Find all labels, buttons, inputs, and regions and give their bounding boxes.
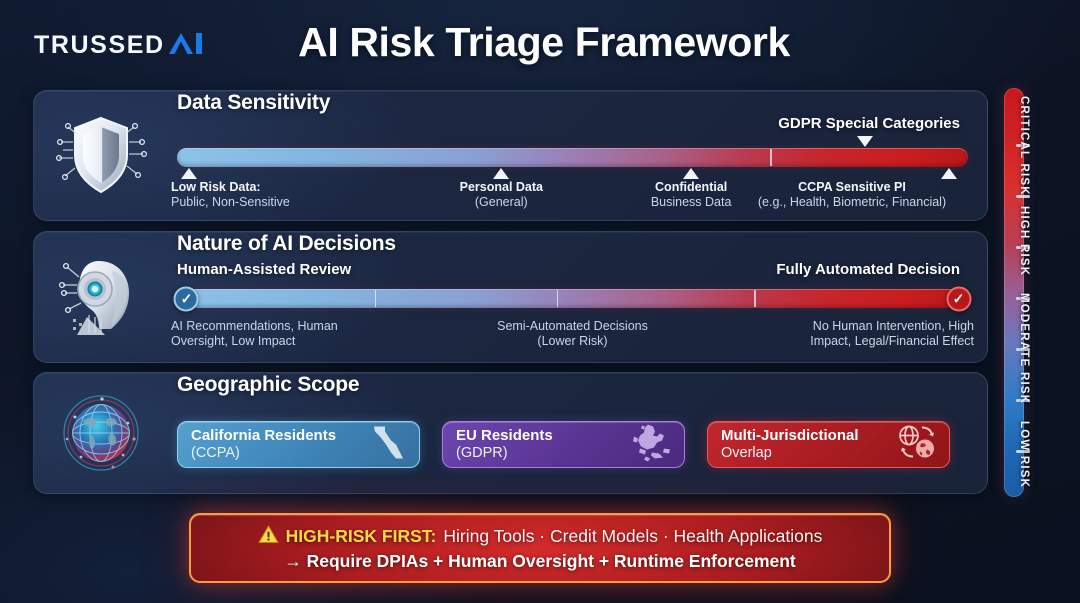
robot-head-icon: [55, 251, 147, 343]
stop-label-line2: Impact, Legal/Financial Effect: [714, 334, 974, 349]
card-title: Nature of AI Decisions: [177, 232, 396, 256]
marker-personal-data: [493, 168, 509, 179]
stop-label-line2: Oversight, Low Impact: [171, 334, 421, 349]
stop-semi-automated-decisions: Semi-Automated Decisions (Lower Risk): [463, 319, 683, 350]
stop-low-risk-data: Low Risk Data: Public, Non-Sensitive: [171, 180, 391, 211]
stop-personal-data: Personal Data (General): [401, 180, 601, 211]
bar-divider: [557, 290, 559, 307]
bar-divider: [770, 149, 772, 166]
marker-low-risk-data: [181, 168, 197, 179]
card-data-sensitivity-body: Data Sensitivity GDPR Special Categories…: [177, 91, 968, 220]
check-circle-icon-fully-automated[interactable]: ✓: [946, 286, 971, 311]
pill-text: California Residents (CCPA): [191, 427, 336, 462]
stop-label-line1: CCPA Sensitive PI: [722, 180, 982, 195]
data-sensitivity-scale: Low Risk Data: Public, Non-Sensitive Per…: [177, 148, 968, 167]
stop-label-line1: Personal Data: [401, 180, 601, 195]
card-geographic-scope: Geographic Scope California Residents (C…: [33, 372, 988, 494]
card-title: Data Sensitivity: [177, 91, 330, 115]
pill-text: EU Residents (GDPR): [456, 427, 553, 462]
stop-label-line2: Public, Non-Sensitive: [171, 195, 391, 210]
card-nature-of-ai-decisions: Nature of AI Decisions Human-Assisted Re…: [33, 231, 988, 363]
bar-divider: [375, 290, 377, 307]
stop-label-line2: (e.g., Health, Biometric, Financial): [722, 195, 982, 210]
page-title: AI Risk Triage Framework: [0, 19, 1080, 66]
overlabel-fully-automated-decision: Fully Automated Decision: [776, 261, 960, 278]
infographic-canvas: TRUSSED AI Risk Triage Framework: [0, 0, 1080, 603]
legend-label-low-risk: LOW RISK: [1018, 421, 1030, 488]
legend-label-high-risk: HIGH RISK: [1018, 206, 1030, 276]
header: TRUSSED AI Risk Triage Framework: [0, 0, 1080, 88]
stop-label-line1: Semi-Automated Decisions: [463, 319, 683, 334]
warning-triangle-icon: [258, 525, 279, 549]
nature-of-decisions-scale: ✓ ✓ AI Recommendations, Human Oversight,…: [177, 289, 968, 308]
pill-label-line2: (GDPR): [456, 445, 553, 462]
overlabel-gdpr-special-categories: GDPR Special Categories: [778, 115, 960, 132]
marker-gdpr-special-categories: [857, 136, 873, 147]
risk-gradient-bar[interactable]: [177, 148, 968, 167]
pill-text: Multi-Jurisdictional Overlap: [721, 427, 859, 462]
risk-legend: CRITICAL RISK HIGH RISK MODERATE RISK LO…: [1000, 88, 1080, 497]
card-data-sensitivity: Data Sensitivity GDPR Special Categories…: [33, 90, 988, 221]
check-circle-icon-human-assisted[interactable]: ✓: [174, 286, 199, 311]
pill-eu-residents[interactable]: EU Residents (GDPR): [442, 421, 685, 468]
globe-hologram-icon: [55, 387, 147, 479]
pill-label-line1: California Residents: [191, 427, 336, 445]
stop-label-line2: (Lower Risk): [463, 334, 683, 349]
bar-divider: [754, 290, 756, 307]
banner-line-2: → Require DPIAs + Human Oversight + Runt…: [284, 551, 796, 572]
card-title: Geographic Scope: [177, 373, 359, 397]
card-nature-body: Nature of AI Decisions Human-Assisted Re…: [177, 232, 968, 362]
pill-label-line2: (CCPA): [191, 445, 336, 462]
stop-label-line1: AI Recommendations, Human: [171, 319, 421, 334]
stop-label-line2: (General): [401, 195, 601, 210]
stop-ccpa-sensitive-pi: CCPA Sensitive PI (e.g., Health, Biometr…: [722, 180, 982, 211]
banner-line-1: HIGH-RISK FIRST: Hiring Tools · Credit M…: [258, 525, 823, 549]
stop-label-line1: No Human Intervention, High: [714, 319, 974, 334]
card-geo-body: Geographic Scope California Residents (C…: [177, 373, 968, 493]
stop-label-line1: Low Risk Data:: [171, 180, 391, 195]
pill-multi-jurisdictional-overlap[interactable]: Multi-Jurisdictional Overlap: [707, 421, 950, 468]
dual-globe-sync-icon: [895, 422, 939, 467]
overlabel-human-assisted-review: Human-Assisted Review: [177, 261, 351, 278]
risk-gradient-bar[interactable]: [177, 289, 968, 308]
legend-label-critical-risk: CRITICAL RISK: [1018, 96, 1030, 196]
stop-no-human-intervention: No Human Intervention, High Impact, Lega…: [714, 319, 974, 350]
high-risk-banner: HIGH-RISK FIRST: Hiring Tools · Credit M…: [189, 513, 891, 583]
pill-california-residents[interactable]: California Residents (CCPA): [177, 421, 420, 468]
marker-ccpa-sensitive: [941, 168, 957, 179]
banner-highlight: HIGH-RISK FIRST:: [286, 526, 437, 547]
legend-label-moderate-risk: MODERATE RISK: [1018, 293, 1030, 404]
pill-label-line1: EU Residents: [456, 427, 553, 445]
geo-pill-group: California Residents (CCPA) EU Residents…: [177, 421, 950, 468]
marker-confidential: [683, 168, 699, 179]
stop-ai-recommendations: AI Recommendations, Human Oversight, Low…: [171, 319, 421, 350]
california-state-icon: [369, 422, 409, 467]
pill-label-line1: Multi-Jurisdictional: [721, 427, 859, 445]
shield-circuit-icon: [55, 110, 147, 202]
banner-line-1-rest: Hiring Tools · Credit Models · Health Ap…: [443, 526, 822, 547]
europe-map-icon: [626, 422, 674, 467]
pill-label-line2: Overlap: [721, 445, 859, 462]
